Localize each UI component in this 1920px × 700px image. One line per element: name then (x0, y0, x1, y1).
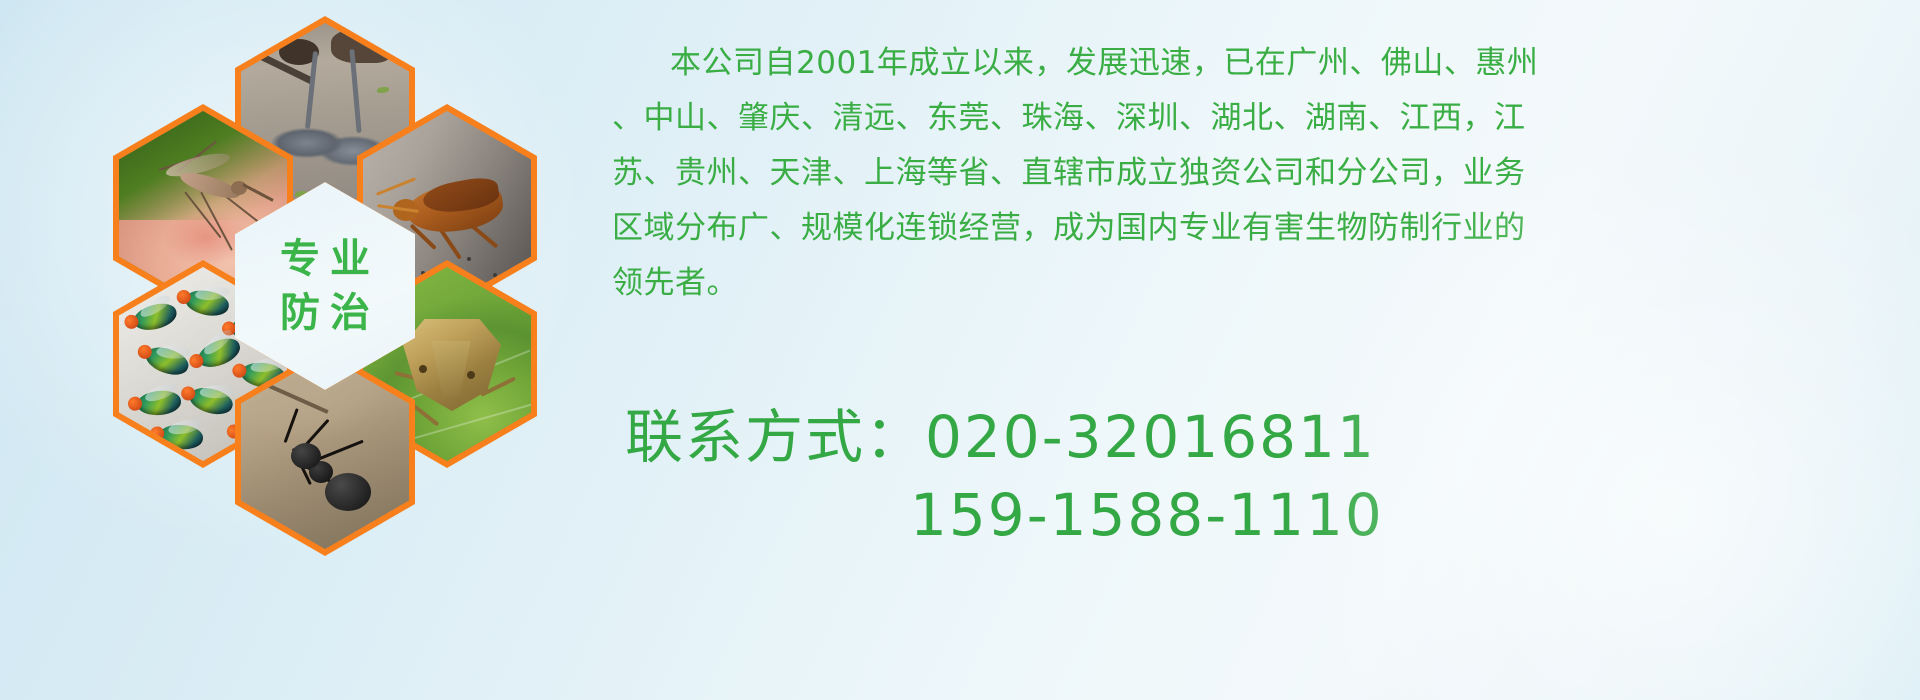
contact-block: 联系方式：020-32016811 159-1588-1110 (625, 398, 1915, 554)
hexagon-photo-collage: 专业 防治 (80, 0, 600, 580)
intro-line-4: 区域分布广、规模化连锁经营，成为国内专业有害生物防制行业的 (612, 201, 1898, 256)
contact-phone-mobile[interactable]: 159-1588-1110 (625, 476, 1915, 554)
promo-banner: 专业 防治 本公司自2001年成立以来，发展迅速，已在广州、佛山、惠州 、中山、… (0, 0, 1920, 700)
company-intro-paragraph: 本公司自2001年成立以来，发展迅速，已在广州、佛山、惠州 、中山、肇庆、清远、… (612, 36, 1898, 311)
logo-slogan-line2: 防治 (270, 293, 380, 333)
logo-slogan-line1: 专业 (270, 239, 380, 279)
intro-line-5: 领先者。 (612, 256, 1898, 311)
intro-line-1: 本公司自2001年成立以来，发展迅速，已在广州、佛山、惠州 (612, 36, 1898, 91)
contact-phone-landline[interactable]: 联系方式：020-32016811 (625, 398, 1915, 476)
intro-line-1-text: 本公司自2001年成立以来，发展迅速，已在广州、佛山、惠州 (670, 45, 1538, 81)
intro-line-3: 苏、贵州、天津、上海等省、直辖市成立独资公司和分公司，业务 (612, 146, 1898, 201)
intro-line-2: 、中山、肇庆、清远、东莞、珠海、深圳、湖北、湖南、江西，江 (612, 91, 1898, 146)
